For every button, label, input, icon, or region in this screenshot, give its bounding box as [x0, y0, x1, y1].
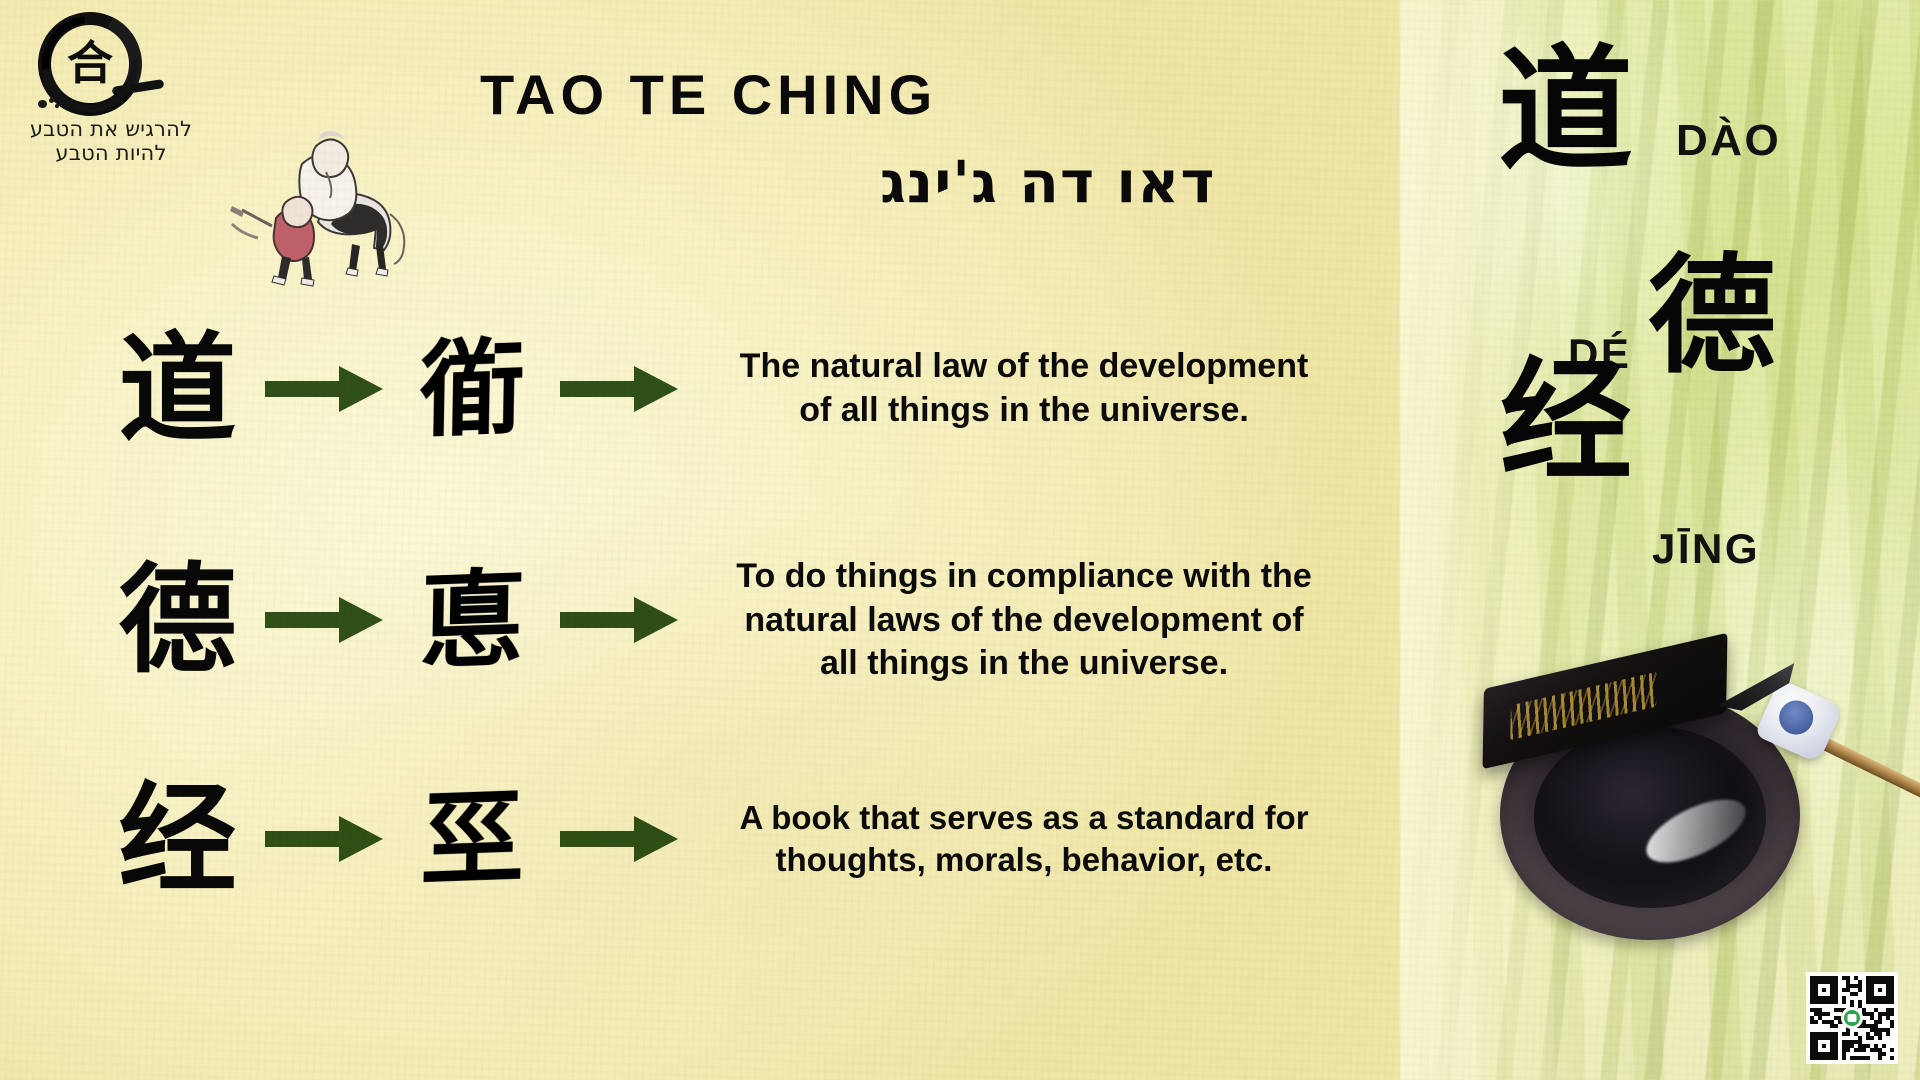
brand-tagline: להרגיש את הטבע להיות הטבע: [22, 118, 200, 165]
arrow-right-icon: [560, 591, 680, 649]
poster-canvas: 合 להרגיש את הטבע להיות הטבע TAO TE CHING…: [0, 0, 1920, 1080]
right-pinyin-jing: JĪNG: [1652, 525, 1760, 573]
modern-character: 道: [90, 330, 265, 448]
calligraphy-brush: [1718, 634, 1920, 864]
right-pinyin-dao: DÀO: [1676, 116, 1781, 166]
brand-tagline-line-2: להיות הטבע: [22, 142, 200, 166]
character-description: The natural law of the development of al…: [724, 345, 1324, 432]
arrow-right-icon: [560, 360, 680, 418]
modern-character: 德: [90, 561, 265, 679]
arrow-right-icon: [560, 810, 680, 868]
page-subtitle-hebrew: דאו דה ג'ינג: [880, 148, 1216, 216]
ancient-seal-character: 衜: [384, 334, 561, 444]
character-row: 道 衜 The natural law of the development o…: [90, 330, 1490, 448]
logo-chinese-glyph: 合: [67, 40, 113, 86]
arrow-right-icon: [265, 591, 385, 649]
qr-code[interactable]: [1806, 972, 1898, 1064]
ancient-seal-character: 悳: [384, 565, 561, 675]
right-character-jing: 经: [1500, 356, 1632, 488]
laozi-on-ox-illustration: [230, 110, 420, 300]
character-row: 经 巠 A book that serves as a standard for…: [90, 780, 1490, 898]
right-character-de: 德: [1648, 252, 1776, 380]
character-description: A book that serves as a standard for tho…: [724, 797, 1324, 881]
arrow-right-icon: [265, 810, 385, 868]
modern-character: 经: [90, 780, 265, 898]
right-character-dao: 道: [1498, 42, 1633, 177]
character-description: To do things in compliance with the natu…: [724, 555, 1324, 686]
ancient-seal-character: 巠: [384, 784, 561, 894]
enso-circle-icon: 合: [38, 12, 142, 116]
arrow-right-icon: [265, 360, 385, 418]
brand-tagline-line-1: להרגיש את הטבע: [22, 118, 200, 142]
character-row: 德 悳 To do things in compliance with the …: [90, 555, 1490, 686]
inkstone-and-brush-photo: [1490, 640, 1890, 940]
page-title: TAO TE CHING: [480, 62, 937, 127]
qr-center-logo-icon: [1841, 1007, 1863, 1029]
brand-logo[interactable]: 合 להרגיש את הטבע להיות הטבע: [22, 12, 202, 165]
